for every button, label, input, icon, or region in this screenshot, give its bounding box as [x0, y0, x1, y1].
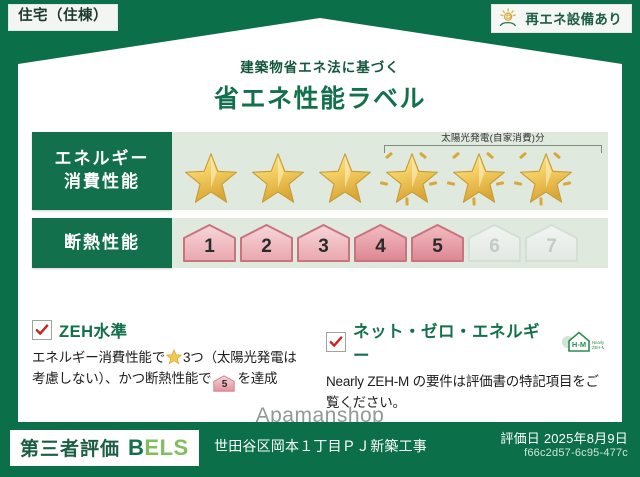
svg-text:H-M: H-M: [572, 340, 586, 349]
zeh-note-body: エネルギー消費性能で3つ（太陽光発電は考慮しない）、かつ断熱性能で5を達成: [32, 348, 310, 392]
zeh-note-header: ZEH水準: [32, 318, 310, 342]
inline-star-icon: [166, 349, 182, 365]
energy-label-line1: エネルギー: [55, 148, 150, 171]
netzero-note-header: ネット・ゼロ・エネルギー H-M Nearly ZEH-M: [326, 318, 604, 366]
svg-text:ZEH-M: ZEH-M: [592, 345, 604, 350]
insulation-grade-3: 3: [296, 223, 351, 263]
insulation-grade-2: 2: [239, 223, 294, 263]
check-icon: [329, 335, 343, 349]
solar-ray-mark: [447, 181, 455, 186]
star-icon: [178, 148, 243, 208]
energy-label-line2: 消費性能: [64, 171, 140, 194]
solar-ray-mark: [472, 197, 475, 205]
zeh-note: ZEH水準 エネルギー消費性能で3つ（太陽光発電は考慮しない）、かつ断熱性能で5…: [32, 318, 310, 414]
solar-bracket-line: [384, 145, 602, 153]
bels-logo-b: B: [128, 435, 144, 460]
solar-star-icon: [513, 148, 578, 208]
energy-performance-label: エネルギー 消費性能: [32, 132, 172, 210]
bels-jp-label: 第三者評価: [20, 434, 120, 461]
zeh-checkbox: [32, 320, 52, 340]
evaluation-code: f66c2d57-6c95-477c: [524, 447, 628, 459]
energy-rating-area: 太陽光発電(自家消費)分: [172, 132, 608, 210]
star-icon: [245, 148, 310, 208]
insulation-label-text: 断熱性能: [64, 232, 140, 255]
energy-performance-row: エネルギー 消費性能 太陽光発電(自家消費)分: [32, 132, 608, 210]
netzero-checkbox: [326, 332, 346, 352]
insulation-grade-1: 1: [182, 223, 237, 263]
zeh-body-part1: エネルギー消費性能で: [32, 350, 165, 365]
insulation-performance-label: 断熱性能: [32, 218, 172, 268]
check-icon: [35, 323, 49, 337]
house-type-chip: 住宅（住棟）: [8, 4, 118, 31]
solar-star-icon: [379, 148, 444, 208]
bels-logo: BELS: [128, 435, 189, 461]
star-icon: [312, 148, 377, 208]
solar-star-icon: [446, 148, 511, 208]
project-name: 世田谷区岡本１丁目ＰＪ新築工事: [214, 436, 427, 456]
inline-house-number: 5: [213, 375, 235, 394]
bels-logo-els: ELS: [144, 435, 188, 460]
solar-ray-mark: [405, 197, 408, 205]
heading-subtitle: 建築物省エネ法に基づく: [0, 56, 640, 76]
insulation-grade-7: 7: [524, 223, 579, 263]
heading-title: 省エネ性能ラベル: [0, 79, 640, 115]
energy-label-card: 住宅（住棟） 再エネ設備あり 建築物省エネ法に基づく 省エネ性能ラベル: [0, 0, 640, 477]
insulation-performance-row: 断熱性能 1234567: [32, 218, 608, 268]
zeh-note-title: ZEH水準: [59, 318, 128, 342]
footer-bar: 第三者評価 BELS 世田谷区岡本１丁目ＰＪ新築工事 評価日 2025年8月9日…: [0, 422, 640, 477]
solar-ray-mark: [539, 197, 542, 205]
evaluation-date: 評価日 2025年8月9日: [500, 428, 628, 447]
inline-house-grade-icon: 5: [213, 375, 235, 392]
label-heading: 建築物省エネ法に基づく 省エネ性能ラベル: [0, 56, 640, 115]
insulation-grade-strip: 1234567: [182, 223, 579, 263]
zeh-body-stars: 3つ（太陽光発電: [183, 350, 283, 365]
solar-ray-mark: [514, 181, 522, 186]
sun-solar-icon: [498, 8, 520, 28]
solar-bracket-caption: 太陽光発電(自家消費)分: [384, 134, 602, 144]
criteria-notes: ZEH水準 エネルギー消費性能で3つ（太陽光発電は考慮しない）、かつ断熱性能で5…: [32, 318, 608, 414]
renewable-badge-label: 再エネ設備あり: [525, 8, 622, 28]
netzero-note-title: ネット・ゼロ・エネルギー: [353, 318, 549, 366]
solar-ray-mark: [380, 181, 388, 186]
star-rating-strip: [178, 148, 578, 208]
netzero-note: ネット・ゼロ・エネルギー H-M Nearly ZEH-M Nearly ZEH…: [326, 318, 604, 414]
bels-chip: 第三者評価 BELS: [10, 430, 199, 466]
house-type-chip-label: 住宅（住棟）: [18, 8, 108, 24]
insulation-rating-area: 1234567: [172, 218, 608, 268]
insulation-grade-5: 5: [410, 223, 465, 263]
zeh-body-part3: を達成: [237, 371, 277, 386]
insulation-grade-4: 4: [353, 223, 408, 263]
zeh-m-logo: H-M Nearly ZEH-M: [560, 329, 604, 355]
solar-bracket-annotation: 太陽光発電(自家消費)分: [384, 134, 602, 153]
renewable-equipment-badge: 再エネ設備あり: [491, 4, 632, 33]
insulation-grade-6: 6: [467, 223, 522, 263]
performance-rows: エネルギー 消費性能 太陽光発電(自家消費)分 断熱性能 1234567: [32, 132, 608, 276]
